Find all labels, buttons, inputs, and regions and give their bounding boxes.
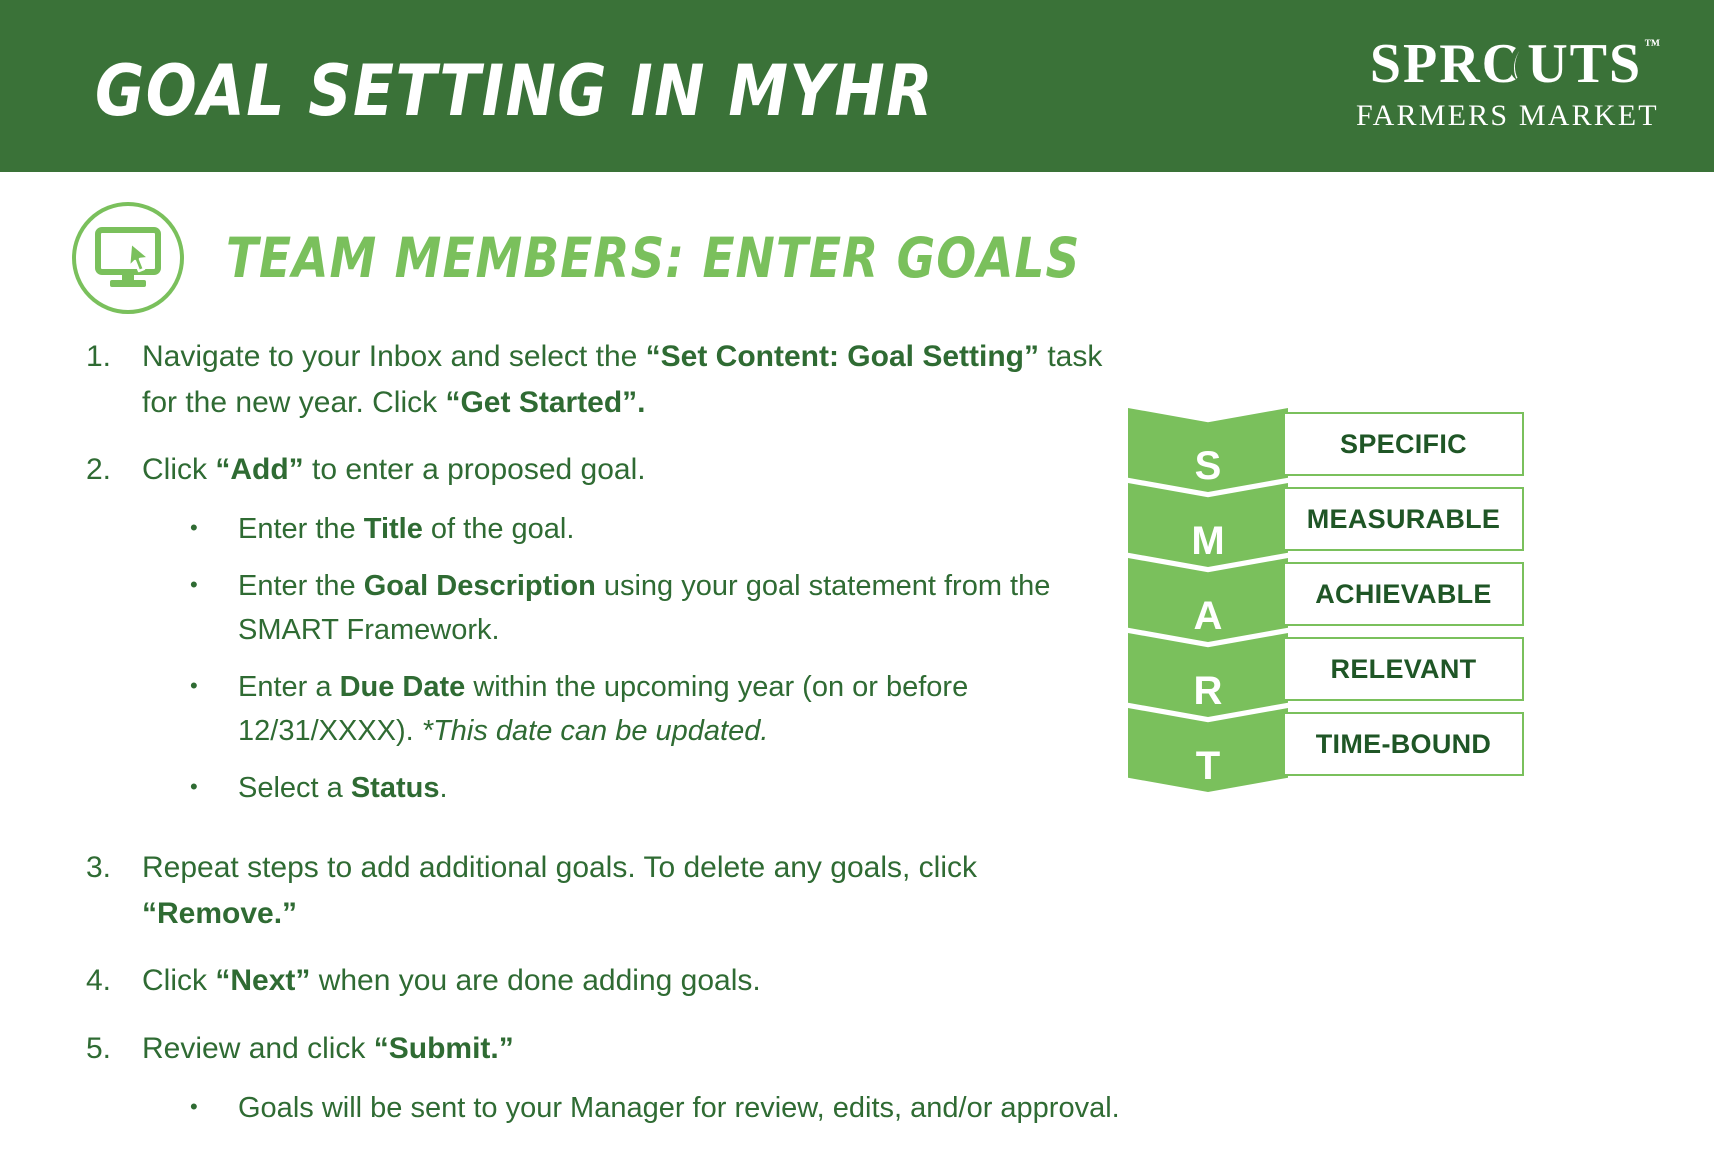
- step-item: 2.Click “Add” to enter a proposed goal.•…: [86, 447, 1126, 823]
- step-text: Repeat steps to add additional goals. To…: [142, 845, 1126, 936]
- sub-item-text: Enter the Goal Description using your go…: [238, 564, 1126, 652]
- step-number: 5.: [86, 1026, 142, 1143]
- step-item: 5.Review and click “Submit.”•Goals will …: [86, 1026, 1126, 1143]
- emphasis-bold: Status: [351, 772, 440, 804]
- smart-chevron: S: [1128, 408, 1288, 492]
- smart-chevron: T: [1128, 708, 1288, 792]
- smart-chevron: A: [1128, 558, 1288, 642]
- text-run: .: [439, 772, 447, 804]
- smart-label: TIME-BOUND: [1316, 729, 1491, 760]
- step-sub-list: •Goals will be sent to your Manager for …: [142, 1086, 1126, 1130]
- step-sub-list: •Enter the Title of the goal.•Enter the …: [142, 507, 1126, 810]
- smart-letter: T: [1196, 746, 1220, 792]
- step-item: 1.Navigate to your Inbox and select the …: [86, 334, 1126, 425]
- sub-list-item: •Enter the Goal Description using your g…: [142, 564, 1126, 652]
- smart-row: MMEASURABLE: [1128, 483, 1524, 558]
- bullet-icon: •: [190, 507, 238, 551]
- step-body: Repeat steps to add additional goals. To…: [142, 845, 1126, 936]
- text-run: Review and click: [142, 1032, 374, 1065]
- text-run: of the goal.: [423, 513, 575, 545]
- smart-row: RRELEVANT: [1128, 633, 1524, 708]
- step-body: Navigate to your Inbox and select the “S…: [142, 334, 1126, 425]
- step-body: Review and click “Submit.”•Goals will be…: [142, 1026, 1126, 1143]
- smart-label-box: MEASURABLE: [1283, 487, 1524, 551]
- text-run: Click: [142, 453, 215, 486]
- emphasis-italic: *This date can be updated.: [422, 715, 769, 747]
- emphasis-bold: “Set Content: Goal Setting”: [646, 340, 1039, 373]
- header-bar: GOAL SETTING IN MYHR SPROUTS ™ FARMERS M…: [0, 0, 1714, 172]
- section-title: TEAM MEMBERS: ENTER GOALS: [226, 226, 1080, 291]
- text-run: Repeat steps to add additional goals. To…: [142, 851, 977, 884]
- step-text: Review and click “Submit.”: [142, 1026, 1126, 1072]
- text-run: Select a: [238, 772, 351, 804]
- step-text: Click “Next” when you are done adding go…: [142, 958, 1126, 1004]
- smart-row: AACHIEVABLE: [1128, 558, 1524, 633]
- sub-item-text: Enter the Title of the goal.: [238, 507, 1126, 551]
- bullet-icon: •: [190, 665, 238, 753]
- sprouts-logo: SPROUTS ™ FARMERS MARKET: [1356, 36, 1656, 133]
- bullet-icon: •: [190, 766, 238, 810]
- smart-row: TTIME-BOUND: [1128, 708, 1524, 783]
- step-number: 1.: [86, 334, 142, 425]
- section-heading: TEAM MEMBERS: ENTER GOALS: [72, 198, 1080, 318]
- step-body: Click “Next” when you are done adding go…: [142, 958, 1126, 1004]
- sub-list-item: •Goals will be sent to your Manager for …: [142, 1086, 1126, 1130]
- logo-wordmark-part1: SPR: [1370, 33, 1482, 95]
- smart-label: MEASURABLE: [1307, 504, 1501, 535]
- step-number: 4.: [86, 958, 142, 1004]
- emphasis-bold: “Add”: [215, 453, 303, 486]
- step-number: 3.: [86, 845, 142, 936]
- smart-label-box: SPECIFIC: [1283, 412, 1524, 476]
- sub-item-text: Enter a Due Date within the upcoming yea…: [238, 665, 1126, 753]
- emphasis-bold: Due Date: [340, 671, 466, 703]
- steps-list: 1.Navigate to your Inbox and select the …: [86, 334, 1126, 1165]
- step-body: Click “Add” to enter a proposed goal.•En…: [142, 447, 1126, 823]
- page-title: GOAL SETTING IN MYHR: [95, 50, 934, 133]
- sub-item-text: Select a Status.: [238, 766, 1126, 810]
- smart-label: RELEVANT: [1331, 654, 1477, 685]
- leaf-icon: [1506, 39, 1532, 81]
- emphasis-bold: “Submit.”: [374, 1032, 514, 1065]
- text-run: when you are done adding goals.: [310, 964, 760, 997]
- sub-list-item: •Select a Status.: [142, 766, 1126, 810]
- smart-label: SPECIFIC: [1340, 429, 1467, 460]
- logo-wordmark: SPROUTS ™: [1370, 36, 1642, 92]
- bullet-icon: •: [190, 564, 238, 652]
- smart-chevron: M: [1128, 483, 1288, 567]
- monitor-cursor-icon: [72, 202, 184, 314]
- smart-framework-graphic: SSPECIFICMMEASURABLEAACHIEVABLERRELEVANT…: [1128, 408, 1524, 783]
- bullet-icon: •: [190, 1086, 238, 1130]
- smart-label-box: ACHIEVABLE: [1283, 562, 1524, 626]
- step-item: 3.Repeat steps to add additional goals. …: [86, 845, 1126, 936]
- step-item: 4.Click “Next” when you are done adding …: [86, 958, 1126, 1004]
- sub-item-text: Goals will be sent to your Manager for r…: [238, 1086, 1126, 1130]
- emphasis-bold: “Get Started”.: [445, 386, 645, 419]
- logo-wordmark-part2: UTS: [1527, 33, 1642, 95]
- text-run: Navigate to your Inbox and select the: [142, 340, 646, 373]
- emphasis-bold: Title: [364, 513, 423, 545]
- emphasis-bold: Goal Description: [364, 570, 596, 602]
- step-text: Click “Add” to enter a proposed goal.: [142, 447, 1126, 493]
- text-run: Enter a: [238, 671, 340, 703]
- text-run: to enter a proposed goal.: [304, 453, 646, 486]
- monitor-cursor-glyph: [95, 227, 161, 289]
- sub-list-item: •Enter the Title of the goal.: [142, 507, 1126, 551]
- sub-list-item: •Enter a Due Date within the upcoming ye…: [142, 665, 1126, 753]
- emphasis-bold: “Remove.”: [142, 897, 297, 930]
- text-run: Click: [142, 964, 215, 997]
- step-text: Navigate to your Inbox and select the “S…: [142, 334, 1126, 425]
- text-run: Enter the: [238, 513, 364, 545]
- text-run: Enter the: [238, 570, 364, 602]
- smart-label-box: RELEVANT: [1283, 637, 1524, 701]
- emphasis-bold: “Next”: [215, 964, 310, 997]
- smart-chevron: R: [1128, 633, 1288, 717]
- smart-label: ACHIEVABLE: [1315, 579, 1492, 610]
- step-number: 2.: [86, 447, 142, 823]
- text-run: Goals will be sent to your Manager for r…: [238, 1092, 1120, 1124]
- smart-row: SSPECIFIC: [1128, 408, 1524, 483]
- logo-tagline: FARMERS MARKET: [1356, 99, 1656, 133]
- smart-label-box: TIME-BOUND: [1283, 712, 1524, 776]
- trademark-symbol: ™: [1644, 38, 1660, 54]
